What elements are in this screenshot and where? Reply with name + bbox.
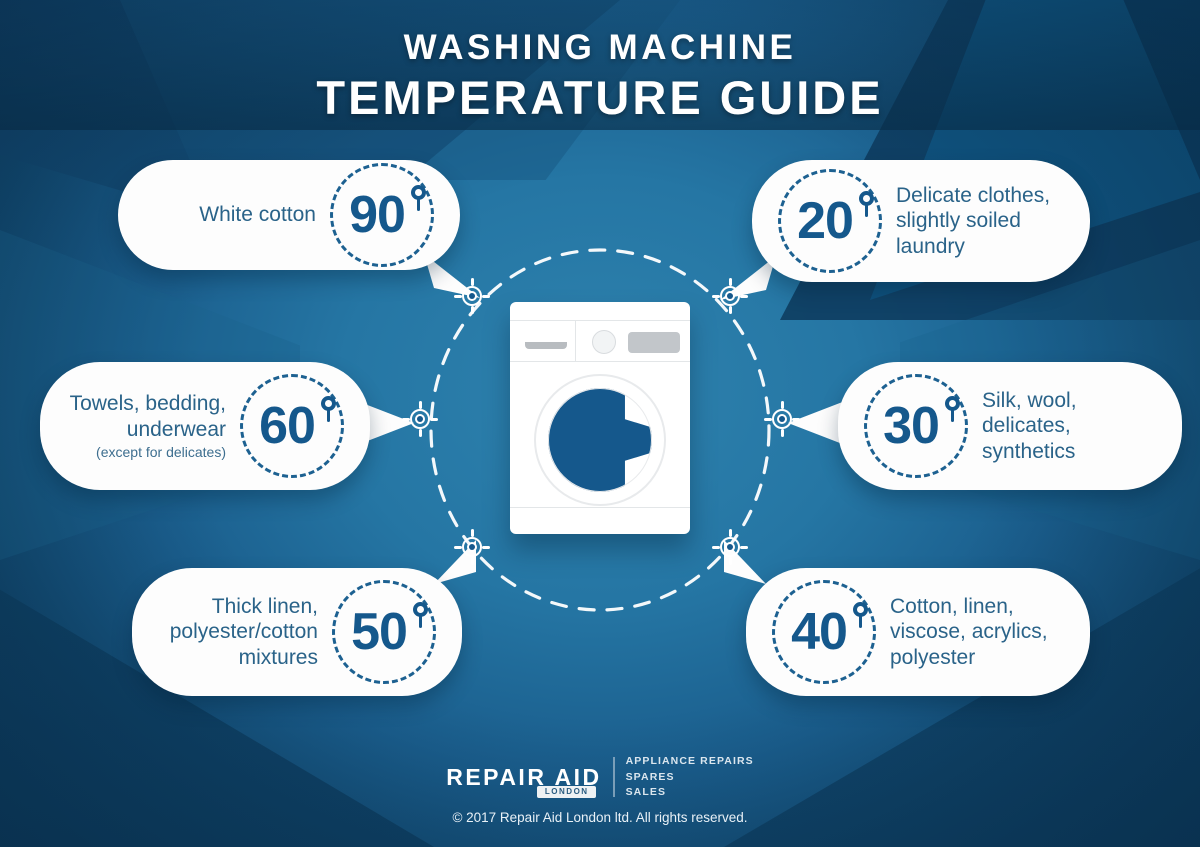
orbit-marker-20 — [717, 283, 743, 309]
marker-tick-east — [430, 418, 438, 421]
footer: REPAIR AID LONDON APPLIANCE REPAIRS SPAR… — [0, 754, 1200, 825]
bubble-60-temperature: 60 — [240, 374, 344, 478]
logo-badge-london: LONDON — [537, 786, 596, 798]
bubble-90[interactable]: White cotton 90 — [118, 160, 460, 270]
bubble-50-temperature: 50 — [332, 580, 436, 684]
marker-tick-west — [712, 295, 720, 298]
machine-drum-ring — [548, 388, 652, 492]
marker-tick-north — [729, 278, 732, 286]
washing-machine-illustration — [510, 302, 690, 534]
marker-tick-north — [471, 529, 474, 537]
detergent-drawer — [518, 321, 576, 361]
marker-tick-south — [471, 557, 474, 565]
degree-icon-30 — [945, 396, 962, 413]
degree-icon-90 — [411, 185, 428, 202]
marker-tick-west — [402, 418, 410, 421]
bubble-60[interactable]: Towels, bedding, underwear (except for d… — [40, 362, 370, 490]
bubble-90-temperature: 90 — [330, 163, 434, 267]
orbit-marker-90 — [459, 283, 485, 309]
bubble-50-label: Thick linen, polyester/cotton mixtures — [170, 594, 318, 671]
infographic-canvas: WASHING MACHINE TEMPERATURE GUIDE — [0, 0, 1200, 847]
bubble-90-label: White cotton — [199, 202, 316, 228]
orbit-marker-40 — [717, 534, 743, 560]
title-line-1: WASHING MACHINE — [0, 28, 1200, 68]
machine-base-line — [510, 507, 690, 508]
orbit-marker-50 — [459, 534, 485, 560]
bubble-60-label: Towels, bedding, underwear (except for d… — [70, 391, 226, 460]
title-line-2: TEMPERATURE GUIDE — [0, 70, 1200, 125]
orbit-marker-60 — [407, 406, 433, 432]
marker-tick-south — [729, 557, 732, 565]
logo-divider — [613, 757, 615, 797]
marker-tick-west — [454, 295, 462, 298]
marker-tick-north — [729, 529, 732, 537]
marker-tick-west — [454, 546, 462, 549]
machine-control-panel — [510, 320, 690, 362]
marker-tick-east — [482, 295, 490, 298]
marker-tick-south — [781, 429, 784, 437]
marker-tick-east — [792, 418, 800, 421]
bubble-30-label: Silk, wool, delicates, synthetics — [982, 388, 1077, 465]
degree-icon-20 — [859, 191, 876, 208]
marker-tick-east — [482, 546, 490, 549]
temperature-value-40: 40 — [791, 602, 847, 662]
marker-dot — [727, 293, 733, 299]
bubble-20-temperature: 20 — [778, 169, 882, 273]
machine-display — [628, 332, 680, 353]
marker-tick-south — [471, 306, 474, 314]
marker-tick-north — [471, 278, 474, 286]
marker-tick-north — [419, 401, 422, 409]
marker-tick-west — [712, 546, 720, 549]
marker-tick-north — [781, 401, 784, 409]
brand-logo[interactable]: REPAIR AID LONDON APPLIANCE REPAIRS SPAR… — [0, 754, 1200, 800]
bubble-40-label: Cotton, linen, viscose, acrylics, polyes… — [890, 594, 1048, 671]
marker-tick-east — [740, 546, 748, 549]
bubble-40-temperature: 40 — [772, 580, 876, 684]
drawer-handle-icon — [525, 342, 567, 349]
bubble-40[interactable]: 40 Cotton, linen, viscose, acrylics, pol… — [746, 568, 1090, 696]
marker-dot — [469, 544, 475, 550]
bubble-50[interactable]: Thick linen, polyester/cotton mixtures 5… — [132, 568, 462, 696]
temperature-value-60: 60 — [259, 396, 315, 456]
bubble-20-label: Delicate clothes, slightly soiled laundr… — [896, 183, 1050, 260]
temperature-value-50: 50 — [351, 602, 407, 662]
marker-tick-west — [764, 418, 772, 421]
temperature-value-90: 90 — [349, 185, 405, 245]
degree-icon-60 — [321, 396, 338, 413]
degree-icon-50 — [413, 602, 430, 619]
bubble-30[interactable]: 30 Silk, wool, delicates, synthetics — [838, 362, 1182, 490]
degree-icon-40 — [853, 602, 870, 619]
copyright-text: © 2017 Repair Aid London ltd. All rights… — [0, 810, 1200, 825]
marker-dot — [417, 416, 423, 422]
temperature-value-20: 20 — [797, 191, 853, 251]
marker-tick-east — [740, 295, 748, 298]
orbit-marker-30 — [769, 406, 795, 432]
marker-dot — [469, 293, 475, 299]
logo-tagline: APPLIANCE REPAIRS SPARES SALES — [626, 754, 754, 800]
bubble-60-note: (except for delicates) — [70, 444, 226, 461]
marker-tick-south — [729, 306, 732, 314]
logo-mark: REPAIR AID LONDON — [446, 766, 601, 789]
page-title: WASHING MACHINE TEMPERATURE GUIDE — [0, 28, 1200, 126]
bubble-30-temperature: 30 — [864, 374, 968, 478]
bubble-20[interactable]: 20 Delicate clothes, slightly soiled lau… — [752, 160, 1090, 282]
marker-dot — [727, 544, 733, 550]
marker-dot — [779, 416, 785, 422]
temperature-value-30: 30 — [883, 396, 939, 456]
machine-door — [534, 374, 666, 506]
marker-tick-south — [419, 429, 422, 437]
program-knob-icon — [592, 330, 616, 354]
